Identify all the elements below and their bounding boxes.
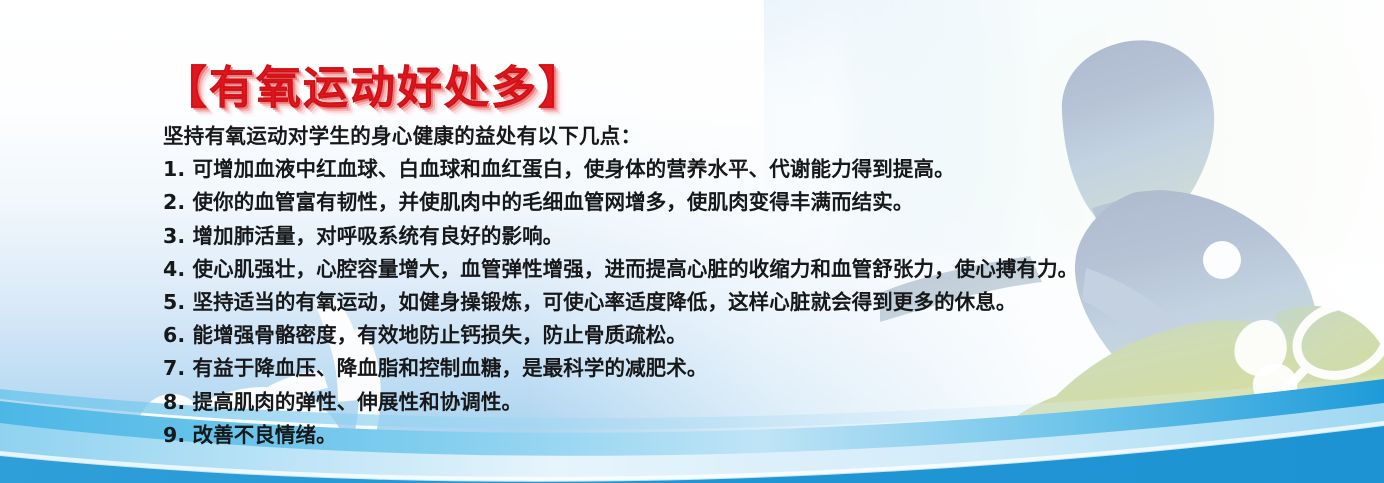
list-item: 9. 改善不良情绪。	[163, 419, 1293, 452]
intro-line: 坚持有氧运动对学生的身心健康的益处有以下几点：	[163, 120, 1293, 153]
benefits-list: 坚持有氧运动对学生的身心健康的益处有以下几点： 1. 可增加血液中红血球、白血球…	[163, 120, 1293, 452]
list-item: 2. 使你的血管富有韧性，并使肌肉中的毛细血管网增多，使肌肉变得丰满而结实。	[163, 186, 1293, 219]
list-item: 4. 使心肌强壮，心腔容量增大，血管弹性增强，进而提高心脏的收缩力和血管舒张力，…	[163, 253, 1293, 286]
list-item: 7. 有益于降血压、降血脂和控制血糖，是最科学的减肥术。	[163, 352, 1293, 385]
list-item: 6. 能增强骨骼密度，有效地防止钙损失，防止骨质疏松。	[163, 319, 1293, 352]
list-item: 8. 提高肌肉的弹性、伸展性和协调性。	[163, 386, 1293, 419]
list-item: 1. 可增加血液中红血球、白血球和血红蛋白，使身体的营养水平、代谢能力得到提高。	[163, 153, 1293, 186]
poster-content: 【有氧运动好处多】 坚持有氧运动对学生的身心健康的益处有以下几点： 1. 可增加…	[0, 0, 1384, 483]
page-title: 【有氧运动好处多】	[162, 51, 585, 116]
list-item: 5. 坚持适当的有氧运动，如健身操锻炼，可使心率适度降低，这样心脏就会得到更多的…	[163, 286, 1293, 319]
list-item: 3. 增加肺活量，对呼吸系统有良好的影响。	[163, 220, 1293, 253]
poster-canvas: 【有氧运动好处多】 坚持有氧运动对学生的身心健康的益处有以下几点： 1. 可增加…	[0, 0, 1384, 483]
